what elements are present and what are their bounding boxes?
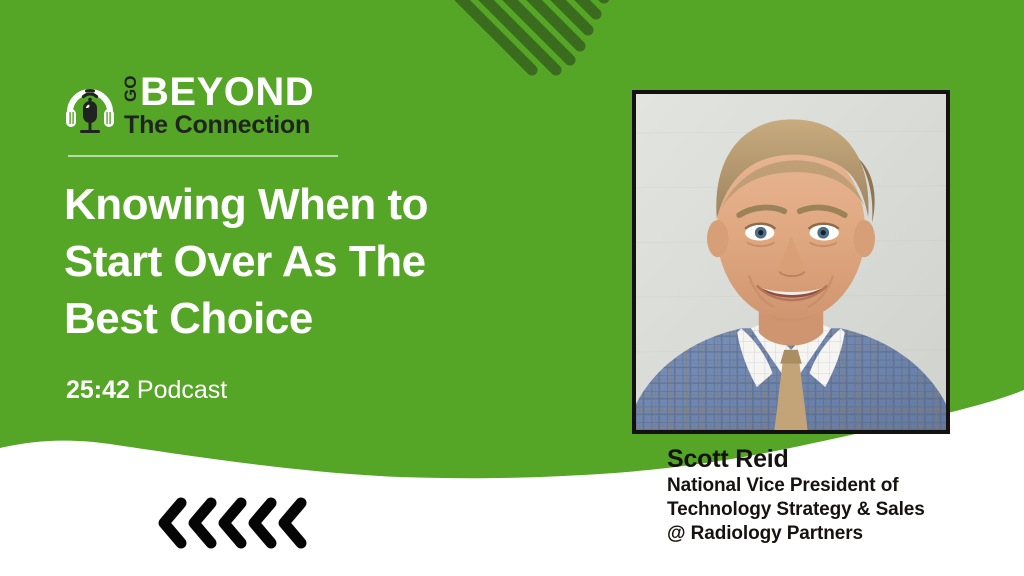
logo-go-text: GO bbox=[116, 84, 146, 102]
chevron-left-icon bbox=[194, 503, 211, 543]
episode-title: Knowing When to Start Over As The Best C… bbox=[64, 176, 584, 347]
speaker-info: Scott Reid National Vice President of Te… bbox=[667, 445, 1007, 546]
logo-beyond-text: BEYOND bbox=[140, 74, 314, 110]
speaker-title: National Vice President of Technology St… bbox=[667, 474, 1007, 546]
episode-format: Podcast bbox=[130, 376, 227, 404]
diagonal-stripes-decoration bbox=[400, 0, 630, 116]
episode-title-line-3: Best Choice bbox=[64, 290, 584, 347]
speaker-name: Scott Reid bbox=[667, 445, 1007, 474]
speaker-photo bbox=[632, 90, 950, 434]
logo-primary-line: GO BEYOND bbox=[122, 74, 314, 110]
episode-title-line-1: Knowing When to bbox=[64, 176, 584, 233]
podcast-microphone-headphones-icon bbox=[64, 79, 116, 135]
podcast-episode-card: GO BEYOND The Connection Knowing When to… bbox=[0, 0, 1024, 576]
episode-title-line-2: Start Over As The bbox=[64, 233, 584, 290]
logo-tagline: The Connection bbox=[124, 111, 314, 139]
speaker-title-line-2: Technology Strategy & Sales bbox=[667, 498, 1007, 522]
speaker-title-line-1: National Vice President of bbox=[667, 474, 1007, 498]
speaker-title-line-3: @ Radiology Partners bbox=[667, 522, 1007, 546]
logo-wordmark: GO BEYOND The Connection bbox=[122, 74, 314, 139]
chevron-left-icon bbox=[284, 503, 301, 543]
chevron-left-icon-group bbox=[155, 495, 315, 551]
logo-row: GO BEYOND The Connection bbox=[64, 74, 354, 139]
chevron-left-icon bbox=[164, 503, 181, 543]
chevron-left-icon bbox=[254, 503, 271, 543]
logo-divider-rule bbox=[68, 155, 338, 157]
brand-logo[interactable]: GO BEYOND The Connection bbox=[64, 74, 354, 139]
chevron-left-icon bbox=[224, 503, 241, 543]
episode-format-label: Podcast bbox=[137, 376, 227, 404]
speaker-headshot-illustration bbox=[636, 94, 946, 430]
episode-meta: 25:42 Podcast bbox=[66, 375, 227, 405]
episode-duration: 25:42 bbox=[66, 376, 130, 404]
